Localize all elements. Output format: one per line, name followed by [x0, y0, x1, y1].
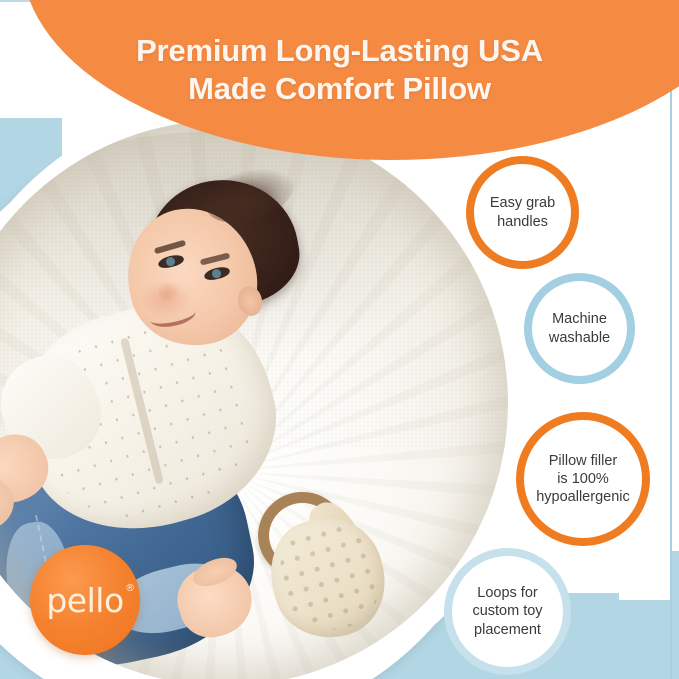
- feature-badge-text: Easy grab handles: [490, 194, 555, 231]
- badge-line: hypoallergenic: [536, 488, 630, 506]
- product-infographic: Premium Long-Lasting USA Made Comfort Pi…: [0, 0, 679, 679]
- badge-line: Easy grab: [490, 194, 555, 212]
- brand-logo[interactable]: pello ®: [30, 545, 140, 655]
- page-title-line-1: Premium Long-Lasting USA: [136, 33, 543, 68]
- badge-line: Machine: [549, 310, 610, 328]
- badge-line: washable: [549, 329, 610, 347]
- page-title-line-2: Made Comfort Pillow: [0, 70, 679, 108]
- feature-badge-loops-for-custom-toy-placement[interactable]: Loops for custom toy placement: [444, 548, 571, 675]
- feature-badge-text: Loops for custom toy placement: [472, 584, 542, 639]
- badge-line: placement: [472, 621, 542, 639]
- feature-badge-text: Pillow filler is 100% hypoallergenic: [536, 452, 630, 507]
- feature-badge-machine-washable[interactable]: Machine washable: [524, 273, 635, 384]
- feature-badge-text: Machine washable: [549, 310, 610, 347]
- brand-name: pello: [46, 581, 123, 620]
- badge-line: Loops for: [472, 584, 542, 602]
- registered-trademark-icon: ®: [125, 583, 135, 594]
- feature-badge-pillow-filler-hypoallergenic[interactable]: Pillow filler is 100% hypoallergenic: [516, 412, 650, 546]
- feature-badge-easy-grab-handles[interactable]: Easy grab handles: [466, 156, 579, 269]
- badge-line: custom toy: [472, 602, 542, 620]
- badge-line: handles: [490, 213, 555, 231]
- page-title: Premium Long-Lasting USA Made Comfort Pi…: [0, 32, 679, 108]
- badge-line: is 100%: [536, 470, 630, 488]
- brand-logo-wordmark: pello ®: [46, 581, 123, 620]
- badge-line: Pillow filler: [536, 452, 630, 470]
